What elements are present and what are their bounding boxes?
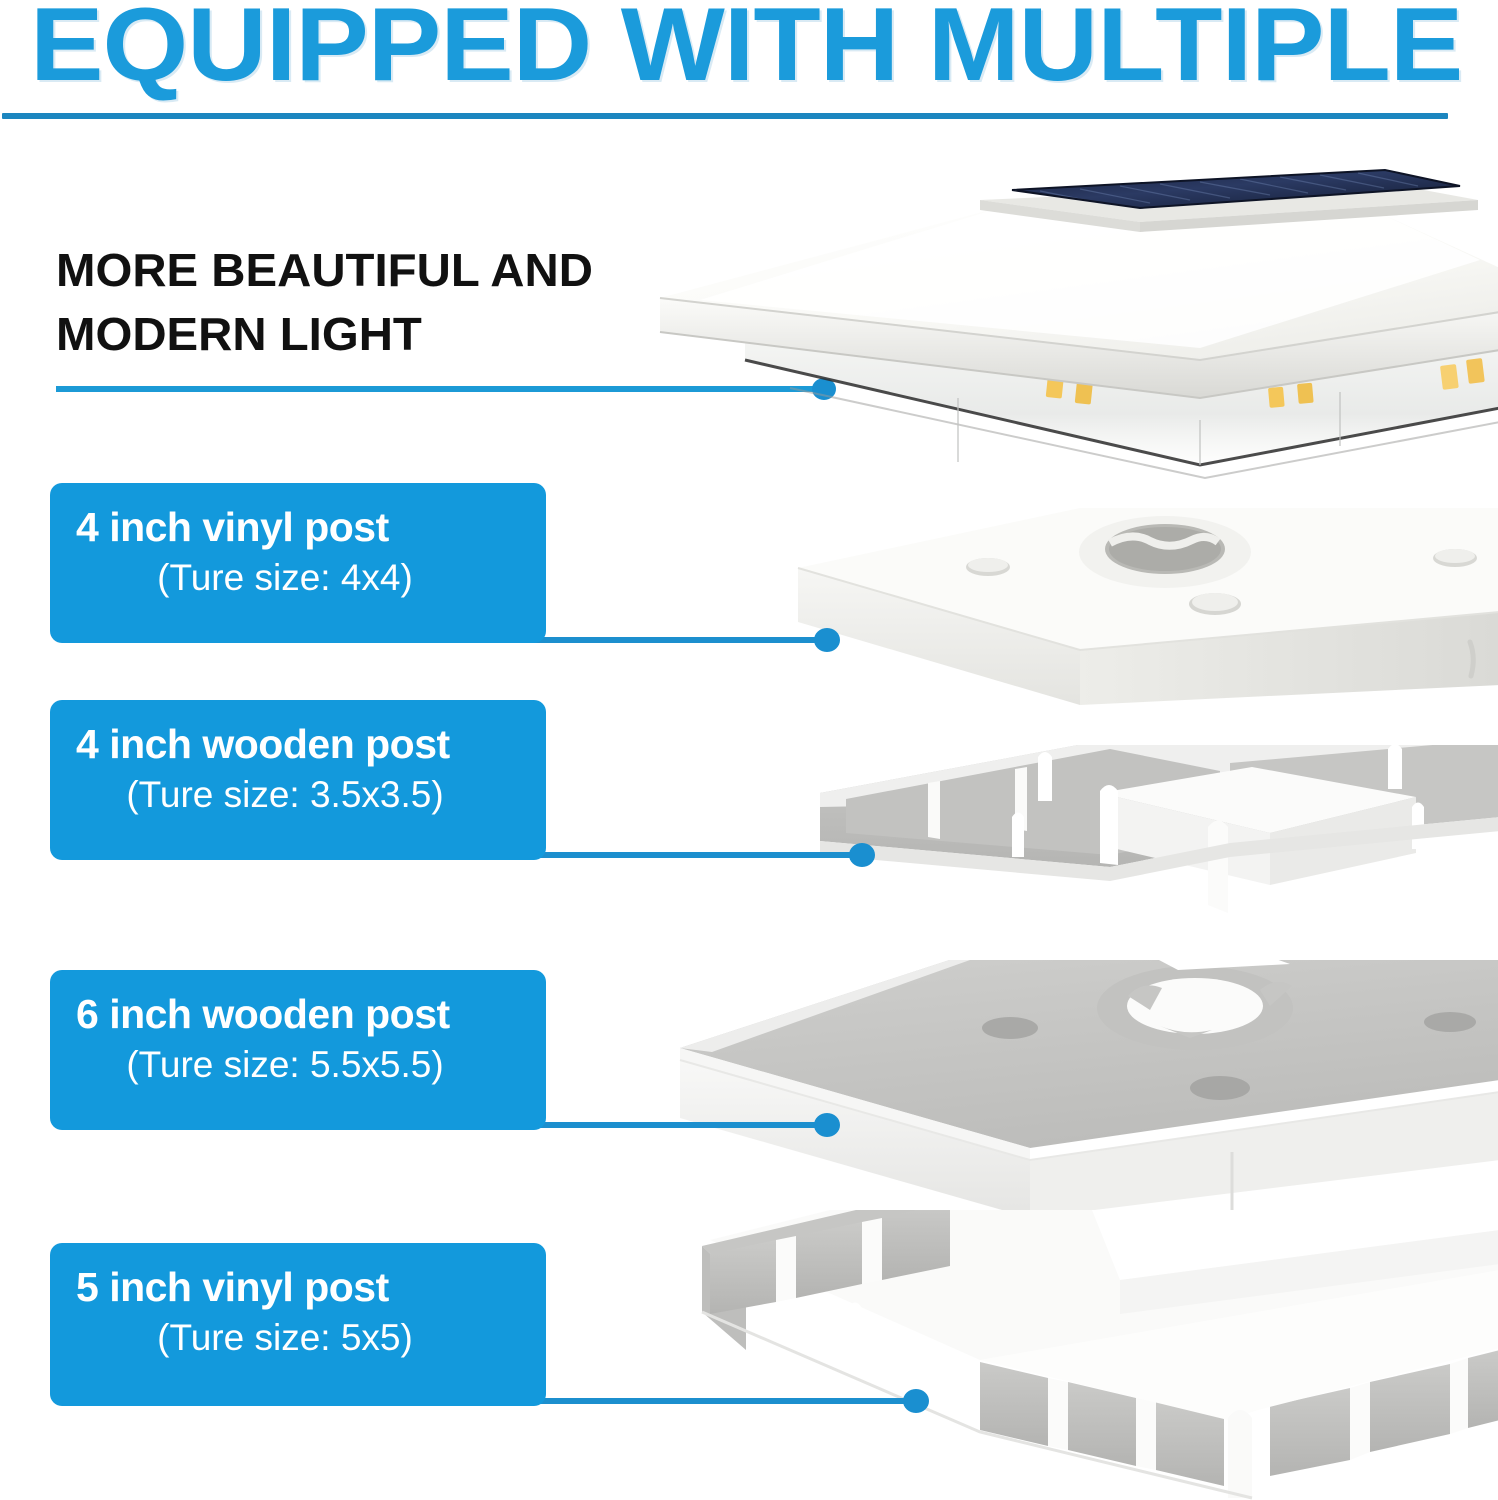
5-inch-vinyl-post-frame-image: [650, 1210, 1498, 1500]
callout-subtitle: (Ture size: 3.5x3.5): [76, 770, 520, 820]
callout-subtitle: (Ture size: 5.5x5.5): [76, 1040, 520, 1090]
callout-5-inch-vinyl-post: 5 inch vinyl post (Ture size: 5x5): [50, 1243, 546, 1406]
6-inch-wooden-post-plate-image: [650, 960, 1498, 1230]
leader-dot-3: [814, 1113, 840, 1137]
callout-6-inch-wooden-post: 6 inch wooden post (Ture size: 5.5x5.5): [50, 970, 546, 1130]
callout-subtitle: (Ture size: 5x5): [76, 1313, 520, 1363]
page-title: EQUIPPED WITH MULTIPLE BASES: [30, 0, 1498, 106]
leader-dot-2: [849, 843, 875, 867]
subheading-line-2: MODERN LIGHT: [56, 302, 695, 366]
leader-dot-4: [903, 1389, 929, 1413]
header-divider: [2, 113, 1448, 119]
callout-4-inch-vinyl-post: 4 inch vinyl post (Ture size: 4x4): [50, 483, 546, 643]
callout-subtitle: (Ture size: 4x4): [76, 553, 520, 603]
callout-title: 4 inch vinyl post: [76, 501, 520, 553]
4-inch-vinyl-post-base-image: [780, 500, 1498, 715]
callout-title: 6 inch wooden post: [76, 988, 520, 1040]
callout-title: 5 inch vinyl post: [76, 1261, 520, 1313]
4-inch-wooden-post-collar-image: [800, 745, 1498, 960]
leader-dot-1: [814, 628, 840, 652]
solar-post-cap-light-image: [640, 160, 1498, 490]
callout-4-inch-wooden-post: 4 inch wooden post (Ture size: 3.5x3.5): [50, 700, 546, 860]
infographic-page: EQUIPPED WITH MULTIPLE BASES MORE BEAUTI…: [0, 0, 1498, 1500]
subheading-line-1: MORE BEAUTIFUL AND: [56, 238, 695, 302]
subheading: MORE BEAUTIFUL AND MODERN LIGHT: [56, 238, 695, 366]
callout-title: 4 inch wooden post: [76, 718, 520, 770]
